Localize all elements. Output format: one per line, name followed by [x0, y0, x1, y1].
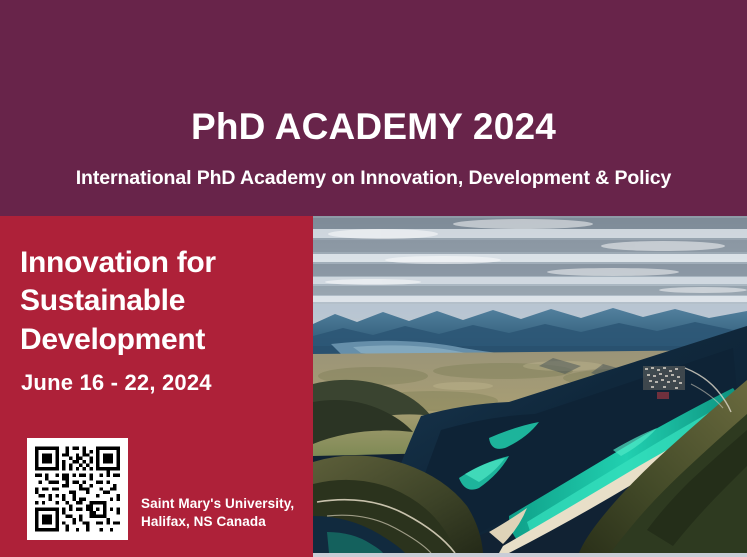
page-subtitle: International PhD Academy on Innovation,… — [0, 168, 747, 189]
event-dates: June 16 - 22, 2024 — [21, 370, 212, 396]
aerial-landscape-photo — [313, 216, 747, 553]
venue-line-2: Halifax, NS Canada — [141, 513, 311, 531]
venue-location: Saint Mary's University, Halifax, NS Can… — [141, 495, 311, 531]
theme-line-3: Development — [20, 321, 300, 359]
qr-code-icon — [35, 446, 120, 532]
poster-header: PhD ACADEMY 2024 International PhD Acade… — [0, 0, 747, 216]
theme-heading: Innovation for Sustainable Development — [20, 244, 300, 359]
page-title: PhD ACADEMY 2024 — [0, 108, 747, 145]
poster-root: PhD ACADEMY 2024 International PhD Acade… — [0, 0, 747, 557]
qr-code-card[interactable] — [27, 438, 128, 540]
theme-line-2: Sustainable — [20, 282, 300, 320]
left-info-panel: Innovation for Sustainable Development J… — [0, 216, 313, 557]
venue-line-1: Saint Mary's University, — [141, 495, 311, 513]
theme-line-1: Innovation for — [20, 244, 300, 282]
bottom-edge-strip-left — [0, 553, 313, 557]
